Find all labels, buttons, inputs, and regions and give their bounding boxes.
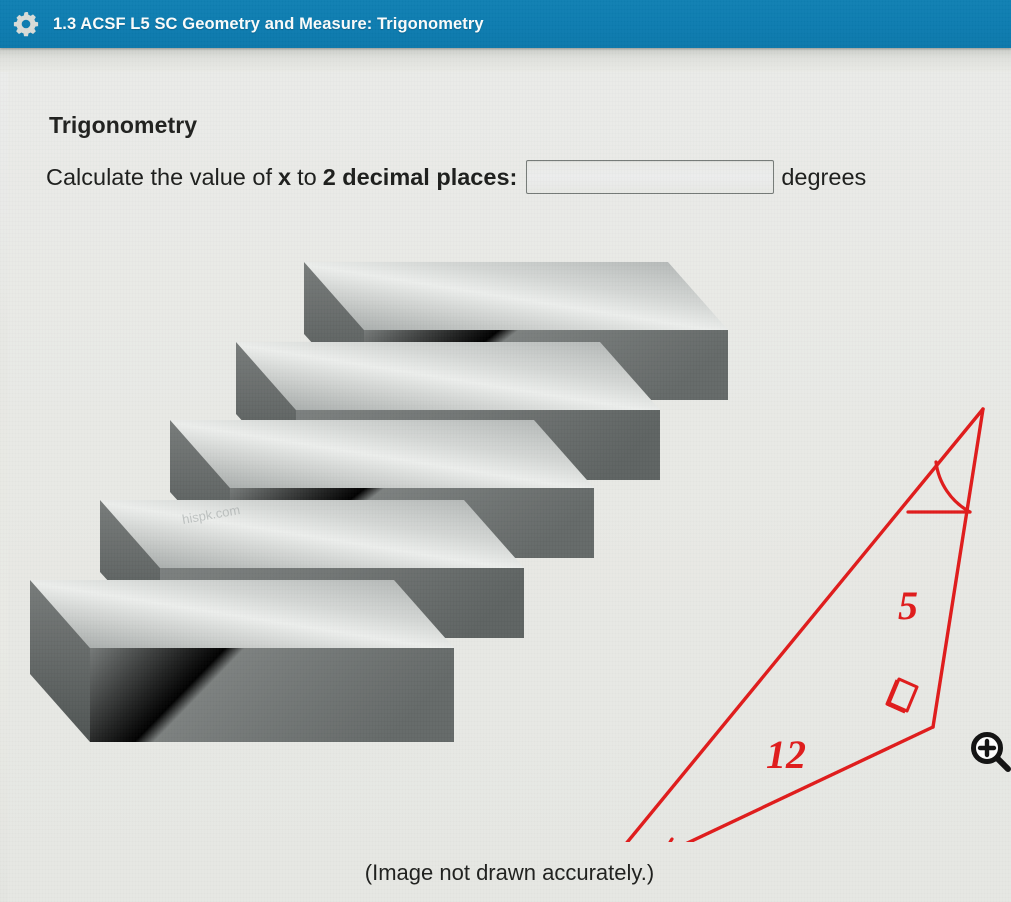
unit-label: degrees [781,164,866,191]
staircase-diagram: hispk.com [8,222,1011,842]
prompt-colon: : [510,164,518,191]
prompt-text-2: to [297,164,317,191]
app-root: 1.3 ACSF L5 SC Geometry and Measure: Tri… [0,0,1011,902]
apex-angle-arc [936,462,970,512]
right-angle-marker [887,679,917,712]
stair-step-5 [30,580,454,742]
question-prompt: Calculate the value of x to 2 decimal pl… [46,160,1006,194]
question-sheet: Trigonometry Calculate the value of x to… [8,72,1011,902]
prompt-text-1: Calculate the value of [46,164,272,191]
label-angle-x: x [632,826,653,842]
prompt-precision: 2 decimal places [323,164,510,191]
figure-caption: (Image not drawn accurately.) [8,860,1011,886]
x-angle-arc [657,839,672,842]
answer-input[interactable] [526,160,774,194]
zoom-in-button[interactable] [967,728,1011,774]
header-title: 1.3 ACSF L5 SC Geometry and Measure: Tri… [53,15,484,34]
header-underband [0,48,1011,72]
page-title: Trigonometry [49,112,197,139]
figure-container: hispk.com [8,222,1011,842]
prompt-variable: x [278,164,291,191]
label-side-5: 5 [898,583,918,628]
zoom-in-icon[interactable] [967,728,1011,774]
label-side-12: 12 [766,732,806,777]
gear-icon[interactable] [11,9,41,39]
app-header: 1.3 ACSF L5 SC Geometry and Measure: Tri… [0,0,1011,48]
